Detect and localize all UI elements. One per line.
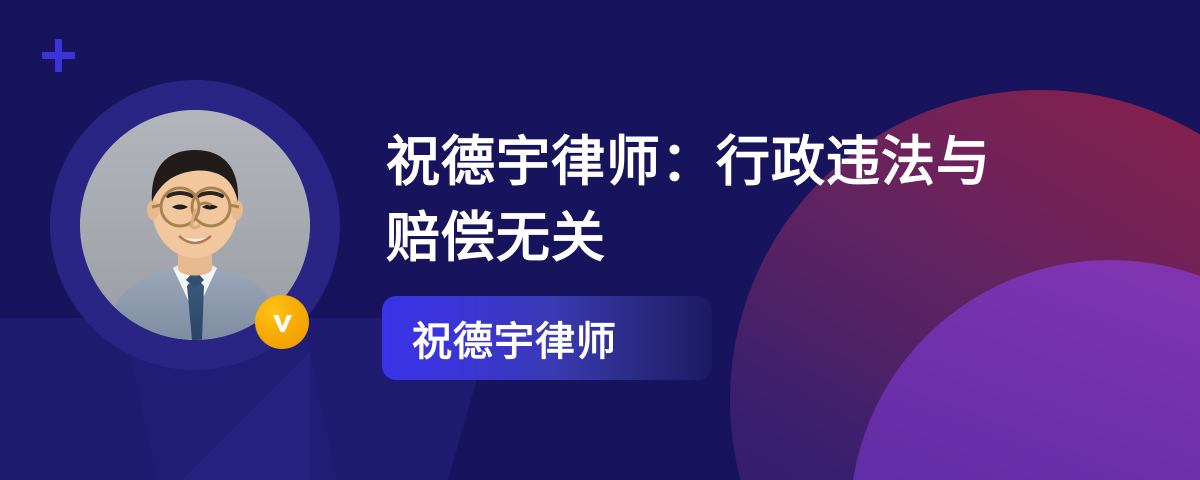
- avatar: [50, 80, 340, 370]
- plus-icon: [42, 39, 75, 72]
- lawyer-name-button[interactable]: 祝德宇律师: [382, 296, 712, 380]
- verified-check-icon: [255, 295, 309, 349]
- page-title: 祝德宇律师：行政违法与 赔偿无关: [386, 124, 1086, 276]
- promo-banner: 祝德宇律师：行政违法与 赔偿无关 祝德宇律师: [0, 0, 1200, 480]
- lawyer-name-button-label: 祝德宇律师: [382, 309, 617, 367]
- decor-triangle-wedge: [170, 352, 310, 480]
